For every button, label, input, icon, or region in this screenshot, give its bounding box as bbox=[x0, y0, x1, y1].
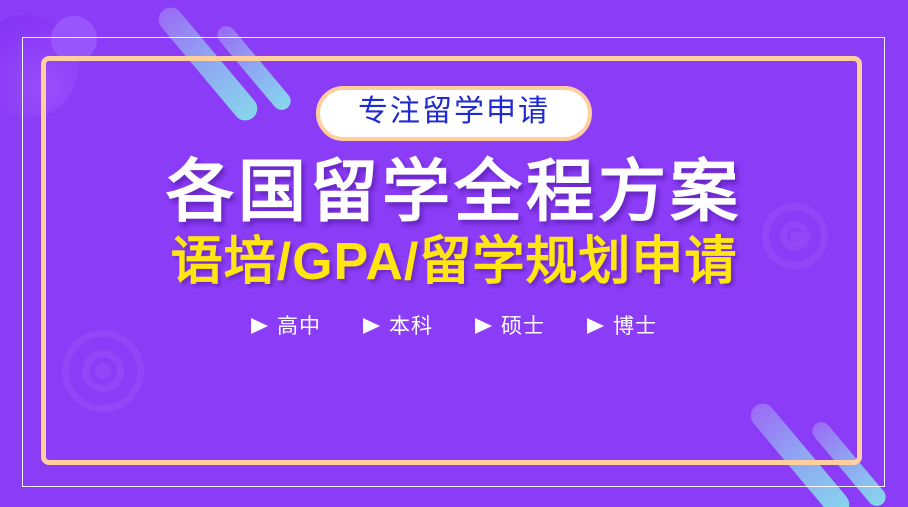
arrow-right-icon bbox=[363, 318, 380, 334]
study-abroad-promo-banner: 专注留学申请 各国留学全程方案 语培/GPA/留学规划申请 高中 本科 硕士 博… bbox=[0, 0, 908, 507]
banner-subheadline: 语培/GPA/留学规划申请 bbox=[171, 234, 738, 291]
arrow-right-icon bbox=[587, 318, 604, 334]
level-label: 博士 bbox=[613, 310, 657, 340]
level-item-high-school: 高中 bbox=[251, 310, 321, 340]
banner-content: 专注留学申请 各国留学全程方案 语培/GPA/留学规划申请 高中 本科 硕士 博… bbox=[0, 0, 908, 507]
level-item-bachelor: 本科 bbox=[363, 310, 433, 340]
banner-headline: 各国留学全程方案 bbox=[166, 157, 742, 228]
level-item-doctorate: 博士 bbox=[587, 310, 657, 340]
level-label: 高中 bbox=[277, 310, 321, 340]
arrow-right-icon bbox=[475, 318, 492, 334]
arrow-right-icon bbox=[251, 318, 268, 334]
level-item-master: 硕士 bbox=[475, 310, 545, 340]
level-label: 本科 bbox=[389, 310, 433, 340]
level-label: 硕士 bbox=[501, 310, 545, 340]
education-levels-list: 高中 本科 硕士 博士 bbox=[251, 310, 657, 340]
focus-badge: 专注留学申请 bbox=[316, 86, 592, 141]
